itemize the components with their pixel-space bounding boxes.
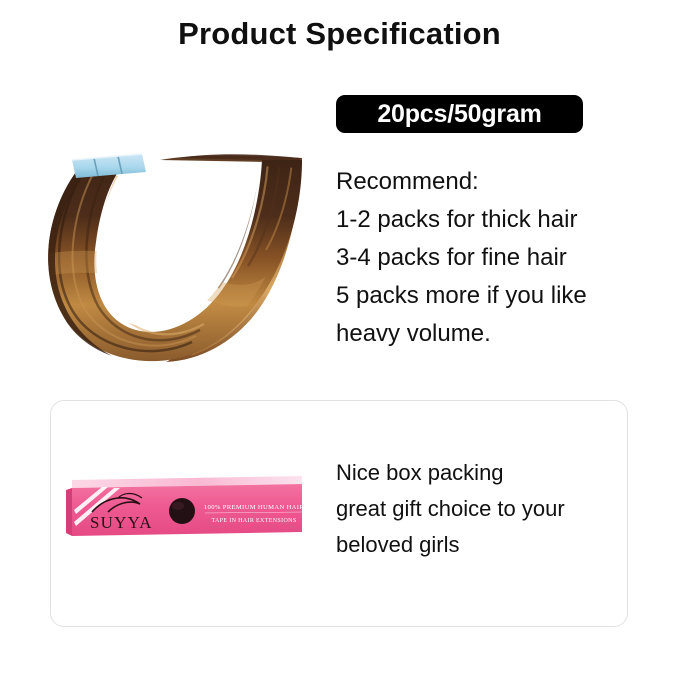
recommend-line: heavy volume. [336, 315, 656, 353]
box-left-face [66, 488, 72, 536]
product-box-image: SUYYA 100% PREMIUM HUMAN HAIR TAPE IN HA… [62, 470, 307, 542]
suyya-box-icon: SUYYA 100% PREMIUM HUMAN HAIR TAPE IN HA… [62, 470, 307, 542]
recommend-line: 1-2 packs for thick hair [336, 201, 656, 239]
status-badge-label: 20pcs/50gram [377, 102, 541, 127]
packing-line: Nice box packing [336, 455, 636, 491]
tape-tab-group [72, 154, 146, 178]
page-title: Product Specification [0, 16, 679, 52]
box-brand-name: SUYYA [90, 513, 153, 532]
status-badge: 20pcs/50gram [336, 95, 583, 133]
box-tagline-primary: 100% PREMIUM HUMAN HAIR [204, 504, 304, 511]
packing-line: great gift choice to your [336, 491, 636, 527]
recommend-line: Recommend: [336, 163, 656, 201]
box-window-highlight [172, 502, 184, 510]
hair-extension-bundle-icon [10, 138, 320, 373]
box-tagline-secondary: TAPE IN HAIR EXTENSIONS [211, 518, 296, 524]
box-window-icon [169, 498, 195, 524]
hair-extension-image [10, 138, 320, 373]
packing-text-block: Nice box packing great gift choice to yo… [336, 455, 636, 563]
recommendation-text-block: Recommend: 1-2 packs for thick hair 3-4 … [336, 163, 656, 353]
recommend-line: 3-4 packs for fine hair [336, 239, 656, 277]
packing-line: beloved girls [336, 527, 636, 563]
recommend-line: 5 packs more if you like [336, 277, 656, 315]
